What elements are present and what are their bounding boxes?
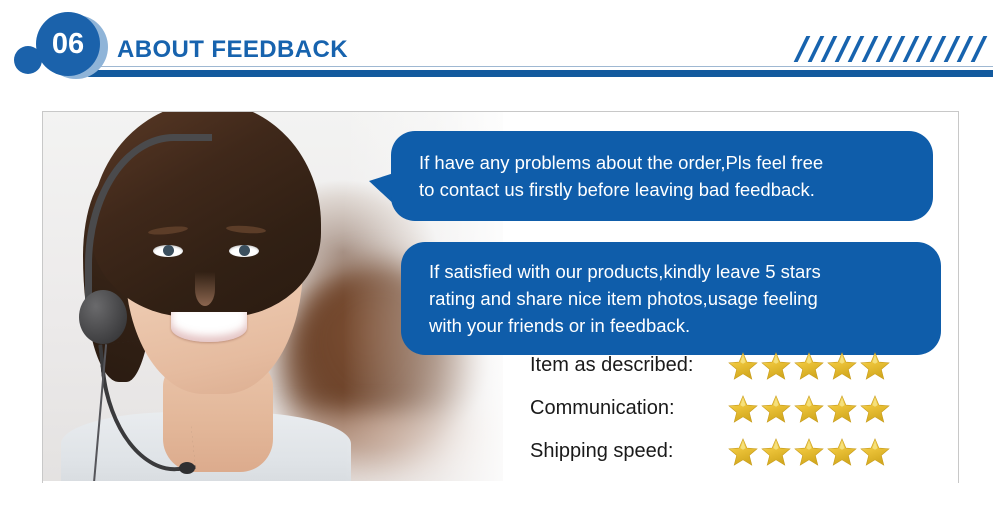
bubble-order-problem: If have any problems about the order,Pls… bbox=[391, 131, 933, 221]
star-icon bbox=[794, 351, 824, 381]
slash-mark bbox=[889, 36, 906, 62]
star-icon bbox=[761, 351, 791, 381]
slash-mark bbox=[794, 36, 811, 62]
header-rule-thin bbox=[88, 66, 993, 67]
rating-row: Communication: bbox=[530, 387, 950, 430]
section-number-badge: 06 bbox=[36, 12, 100, 76]
star-icon bbox=[860, 437, 890, 467]
star-rating bbox=[728, 394, 890, 424]
rating-label: Communication: bbox=[530, 397, 728, 420]
headset-microphone-tip bbox=[179, 462, 195, 474]
section-number-label: 06 bbox=[52, 28, 84, 61]
header-rule-thick bbox=[88, 70, 993, 77]
slash-mark bbox=[930, 36, 947, 62]
slash-mark bbox=[821, 36, 838, 62]
slash-mark bbox=[970, 36, 987, 62]
star-icon bbox=[761, 394, 791, 424]
bubble-satisfied-rating-text: If satisfied with our products,kindly le… bbox=[429, 258, 917, 339]
diagonal-slashes-decoration bbox=[800, 36, 992, 62]
star-icon bbox=[827, 351, 857, 381]
page-title: ABOUT FEEDBACK bbox=[117, 36, 348, 64]
page-header: 06 ABOUT FEEDBACK bbox=[0, 0, 1000, 100]
star-icon bbox=[794, 394, 824, 424]
star-icon bbox=[761, 437, 791, 467]
star-icon bbox=[860, 394, 890, 424]
rating-row: Item as described: bbox=[530, 344, 950, 387]
feedback-content-panel: If have any problems about the order,Pls… bbox=[42, 111, 959, 484]
star-icon bbox=[827, 437, 857, 467]
star-icon bbox=[728, 437, 758, 467]
headset-earcup bbox=[79, 290, 127, 344]
slash-mark bbox=[862, 36, 879, 62]
star-icon bbox=[860, 351, 890, 381]
rating-label: Shipping speed: bbox=[530, 440, 728, 463]
star-icon bbox=[728, 351, 758, 381]
bottom-white-strip bbox=[0, 483, 1000, 513]
bubble-satisfied-rating: If satisfied with our products,kindly le… bbox=[401, 242, 941, 355]
star-rating bbox=[728, 351, 890, 381]
rating-row: Shipping speed: bbox=[530, 430, 950, 473]
star-icon bbox=[728, 394, 758, 424]
star-icon bbox=[827, 394, 857, 424]
star-rating bbox=[728, 437, 890, 467]
rating-list: Item as described:Communication:Shipping… bbox=[530, 344, 950, 473]
bubble-order-problem-text: If have any problems about the order,Pls… bbox=[419, 149, 909, 203]
rating-label: Item as described: bbox=[530, 354, 728, 377]
star-icon bbox=[794, 437, 824, 467]
agent-pupil-right bbox=[239, 245, 250, 256]
slash-mark bbox=[957, 36, 974, 62]
